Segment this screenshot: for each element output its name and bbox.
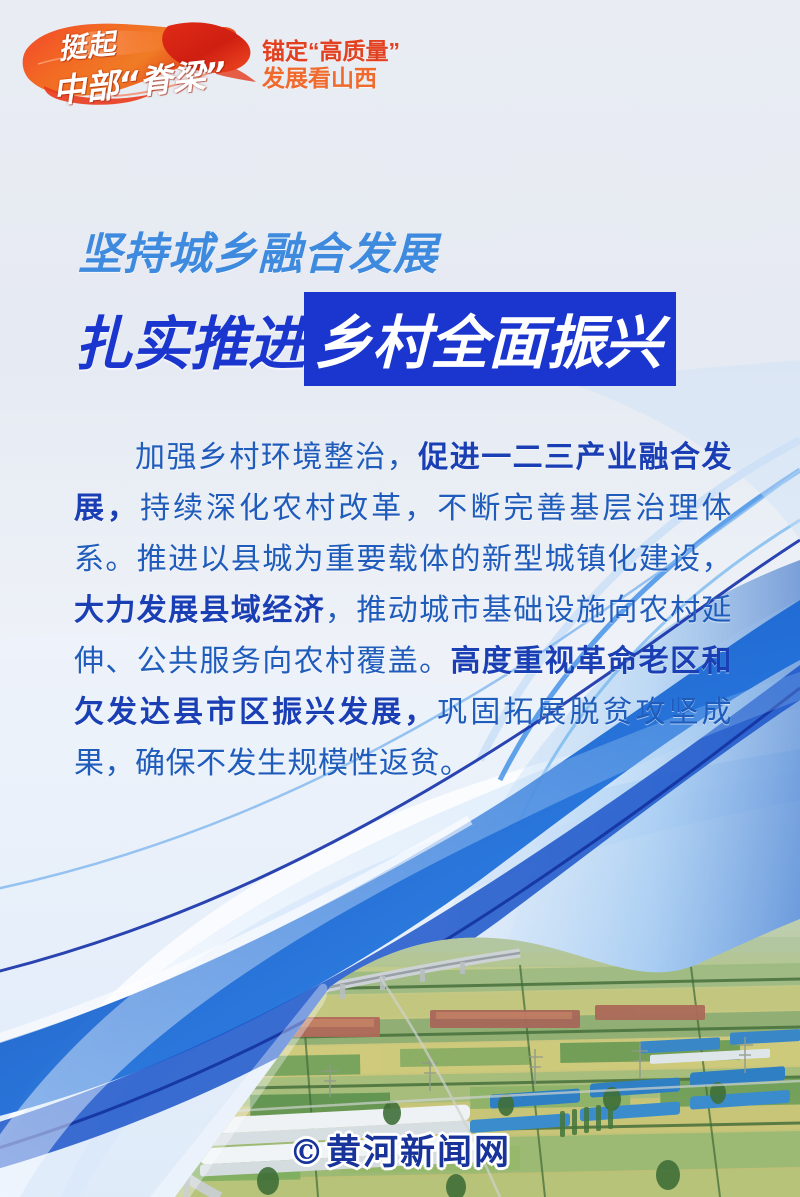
paragraph-emphasis: 大力发展县域经济 [74, 594, 325, 627]
slogan-line-1: 锚定“高质量” [262, 38, 400, 65]
subtitle: 坚持城乡融合发展 [78, 218, 438, 282]
slogan-line-2: 发展看山西 [262, 65, 400, 92]
campaign-slogan: 锚定“高质量” 发展看山西 [262, 38, 400, 92]
campaign-logo: 挺起 中部“脊梁” [18, 8, 268, 118]
paragraph-segment: 加强乡村环境整治， [134, 441, 418, 474]
main-title-highlight: 乡村全面振兴 [304, 292, 676, 386]
header-banner: 挺起 中部“脊梁” 锚定“高质量” 发展看山西 [0, 0, 800, 125]
watermark: ©黄河新闻网 [0, 1124, 800, 1175]
main-title-plain: 扎实推进 [74, 297, 306, 381]
main-title: 扎实推进 乡村全面振兴 [74, 292, 676, 386]
poster-canvas: 挺起 中部“脊梁” 锚定“高质量” 发展看山西 坚持城乡融合发展 扎实推进 乡村… [0, 0, 800, 1197]
paragraph-text: 加强乡村环境整治，促进一二三产业融合发展，持续深化农村改革，不断完善基层治理体系… [74, 441, 732, 780]
body-paragraph: 加强乡村环境整治，促进一二三产业融合发展，持续深化农村改革，不断完善基层治理体系… [74, 432, 732, 789]
paragraph-segment: 持续深化农村改革，不断完善基层治理体系。推进以县城为重要载体的新型城镇化建设， [74, 492, 732, 576]
brush-stroke-icon [18, 8, 268, 118]
